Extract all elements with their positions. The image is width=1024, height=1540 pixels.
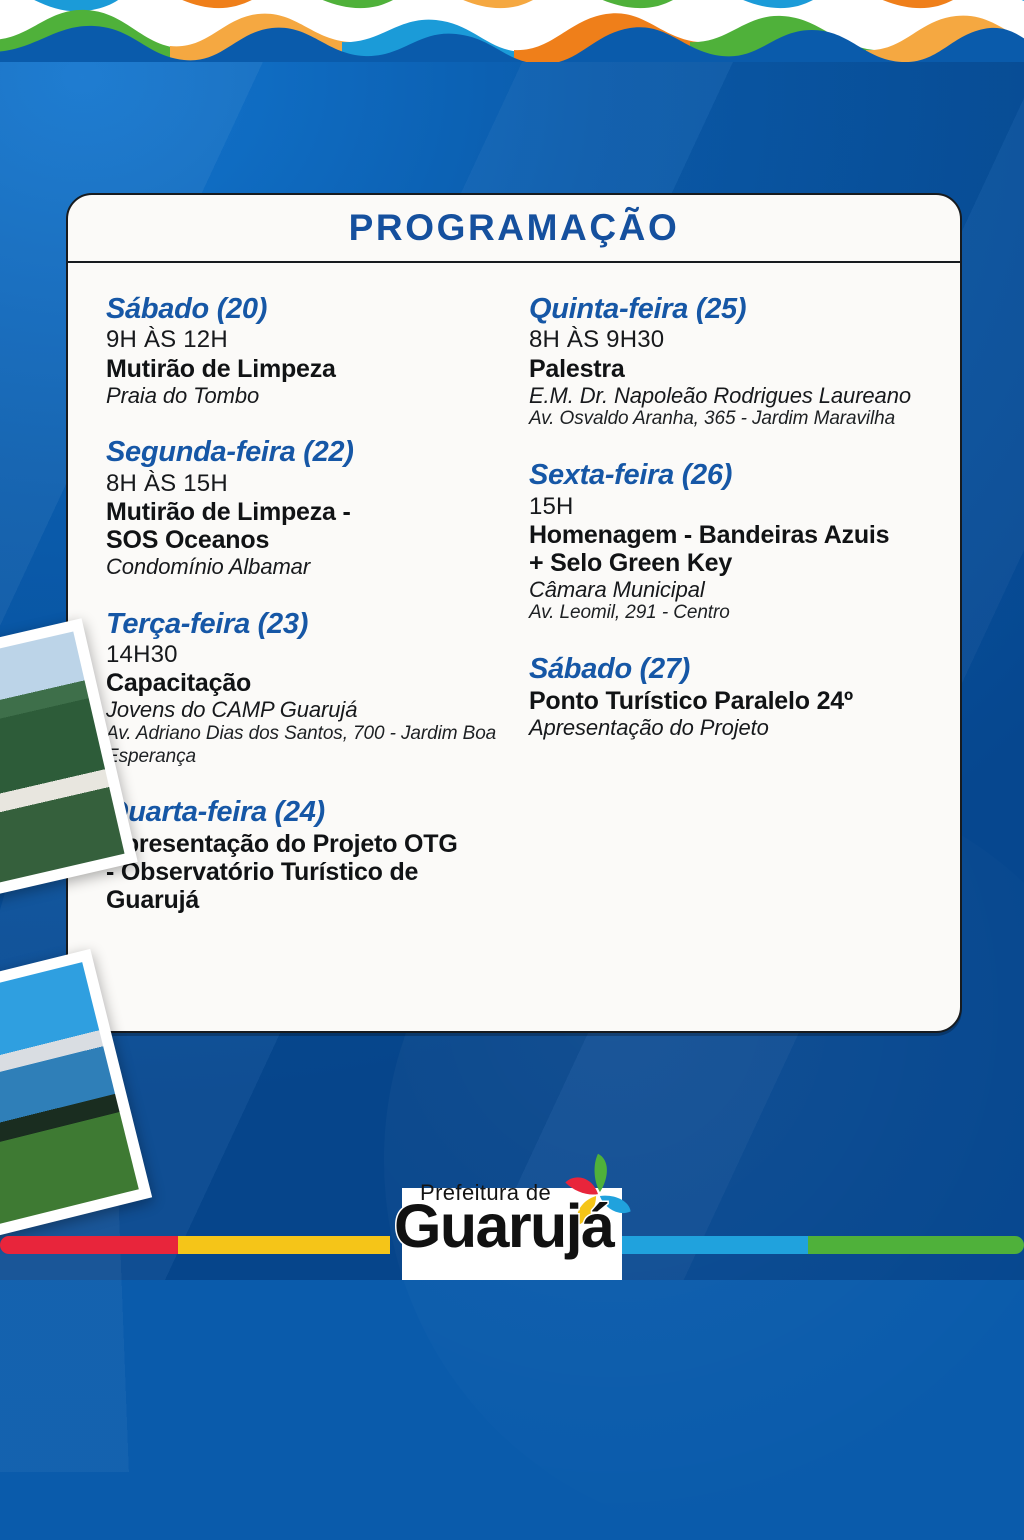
programacao-card: PROGRAMAÇÃO Sábado (20) 9H ÀS 12H Mutirã…: [66, 193, 962, 1033]
card-title-bar: PROGRAMAÇÃO: [68, 195, 960, 263]
schedule-column-left: Sábado (20) 9H ÀS 12H Mutirão de Limpeza…: [106, 293, 507, 914]
event-place: Praia do Tombo: [106, 383, 507, 409]
event-day-label: Segunda-feira (22): [106, 436, 507, 468]
event-terca-23: Terça-feira (23) 14H30 Capacitação Joven…: [106, 608, 507, 769]
event-title-line: Mutirão de Limpeza: [106, 355, 507, 383]
event-day-label: Quarta-feira (24): [106, 796, 507, 828]
event-sexta-26: Sexta-feira (26) 15H Homenagem - Bandeir…: [529, 459, 922, 625]
event-title-line: Capacitação: [106, 669, 507, 697]
event-sabado-27: Sábado (27) Ponto Turístico Paralelo 24º…: [529, 653, 922, 740]
event-day-label: Quinta-feira (25): [529, 293, 922, 325]
event-day-label: Terça-feira (23): [106, 608, 507, 640]
event-title-line: + Selo Green Key: [529, 549, 922, 577]
event-time: 8H ÀS 9H30: [529, 326, 922, 354]
event-segunda-22: Segunda-feira (22) 8H ÀS 15H Mutirão de …: [106, 436, 507, 579]
event-time: 14H30: [106, 641, 507, 669]
event-title-line: - Observatório Turístico de: [106, 858, 507, 886]
event-place: Jovens do CAMP Guarujá: [106, 697, 507, 723]
event-title-line: Palestra: [529, 355, 922, 383]
event-place: Apresentação do Projeto: [529, 715, 922, 741]
event-title-line: Homenagem - Bandeiras Azuis: [529, 521, 922, 549]
logo-title: Guarujá: [394, 1196, 613, 1257]
event-title-line: Mutirão de Limpeza -: [106, 498, 507, 526]
event-quarta-24: Quarta-feira (24) Apresentação do Projet…: [106, 796, 507, 913]
event-time: 15H: [529, 493, 922, 521]
schedule-column-right: Quinta-feira (25) 8H ÀS 9H30 Palestra E.…: [521, 293, 922, 914]
event-day-label: Sábado (20): [106, 293, 507, 325]
event-title-line: Apresentação do Projeto OTG: [106, 830, 507, 858]
event-title-line: Guarujá: [106, 886, 507, 914]
event-sabado-20: Sábado (20) 9H ÀS 12H Mutirão de Limpeza…: [106, 293, 507, 408]
prefeitura-logo: Prefeitura de Guarujá: [0, 1130, 1024, 1280]
event-quinta-25: Quinta-feira (25) 8H ÀS 9H30 Palestra E.…: [529, 293, 922, 431]
event-place: E.M. Dr. Napoleão Rodrigues Laureano: [529, 383, 922, 409]
event-place: Câmara Municipal: [529, 577, 922, 603]
event-address: Av. Leomil, 291 - Centro: [529, 602, 922, 625]
event-time: 9H ÀS 12H: [106, 326, 507, 354]
event-address: Av. Adriano Dias dos Santos, 700 - Jardi…: [106, 723, 507, 769]
event-day-label: Sábado (27): [529, 653, 922, 685]
event-day-label: Sexta-feira (26): [529, 459, 922, 491]
page-title: PROGRAMAÇÃO: [349, 207, 680, 249]
event-title-line: SOS Oceanos: [106, 526, 507, 554]
event-time: 8H ÀS 15H: [106, 470, 507, 498]
event-title-line: Ponto Turístico Paralelo 24º: [529, 687, 922, 715]
event-address: Av. Osvaldo Aranha, 365 - Jardim Maravil…: [529, 408, 922, 431]
card-body: Sábado (20) 9H ÀS 12H Mutirão de Limpeza…: [68, 263, 960, 914]
wave-ribbon-decoration: [0, 0, 1024, 62]
event-place: Condomínio Albamar: [106, 554, 507, 580]
